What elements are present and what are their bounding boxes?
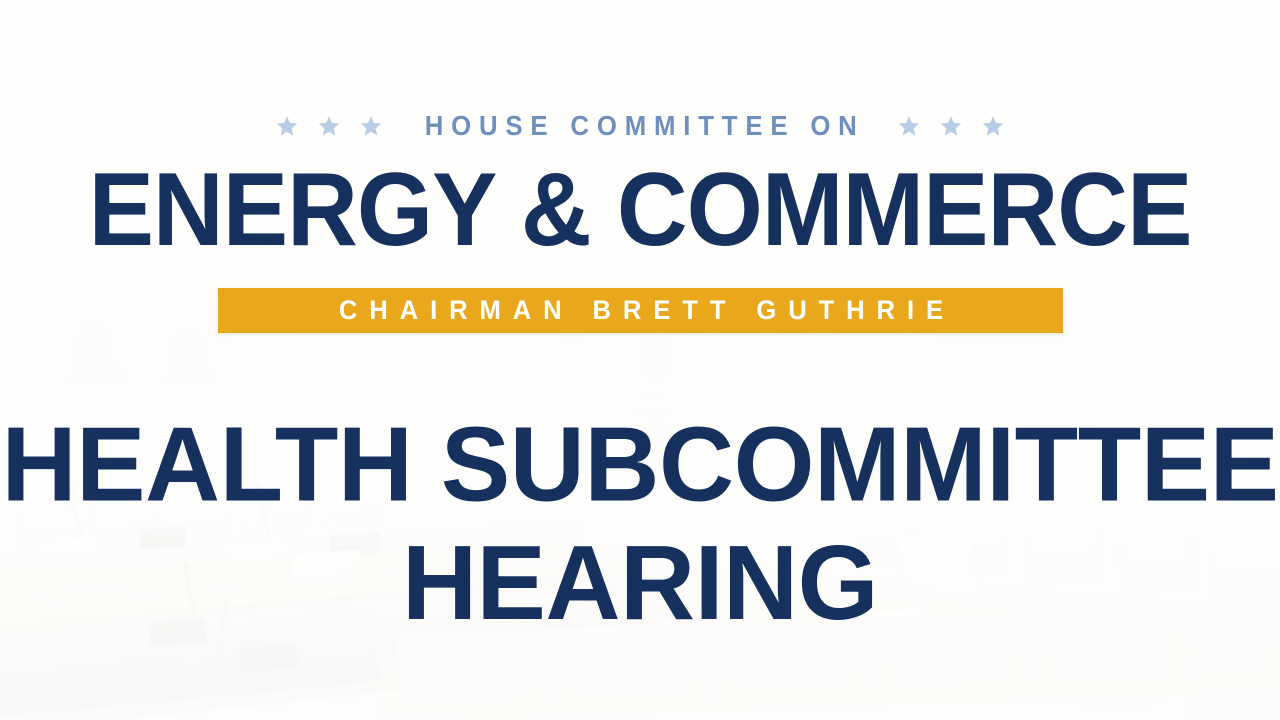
star-icon [276, 115, 298, 137]
star-icon [898, 115, 920, 137]
title-content: HOUSE COMMITTEE ON ENERGY & COMMERCE CHA… [0, 0, 1280, 720]
chairman-name: CHAIRMAN BRETT GUTHRIE [326, 297, 954, 324]
star-icon [940, 115, 962, 137]
headline-line-1: HEALTH SUBCOMMITTEE [0, 406, 1280, 525]
star-group-right [898, 115, 1004, 137]
eyebrow-row: HOUSE COMMITTEE ON [0, 112, 1280, 140]
star-icon [360, 115, 382, 137]
eyebrow-label: HOUSE COMMITTEE ON [415, 112, 864, 140]
star-group-left [276, 115, 382, 137]
title-card-slide: HOUSE COMMITTEE ON ENERGY & COMMERCE CHA… [0, 0, 1280, 720]
headline-line-2: HEARING [0, 524, 1280, 643]
hearing-headline: HEALTH SUBCOMMITTEE HEARING [0, 406, 1280, 644]
committee-wordmark: ENERGY & COMMERCE [0, 157, 1280, 261]
star-icon [318, 115, 340, 137]
chairman-bar: CHAIRMAN BRETT GUTHRIE [218, 288, 1063, 333]
star-icon [982, 115, 1004, 137]
